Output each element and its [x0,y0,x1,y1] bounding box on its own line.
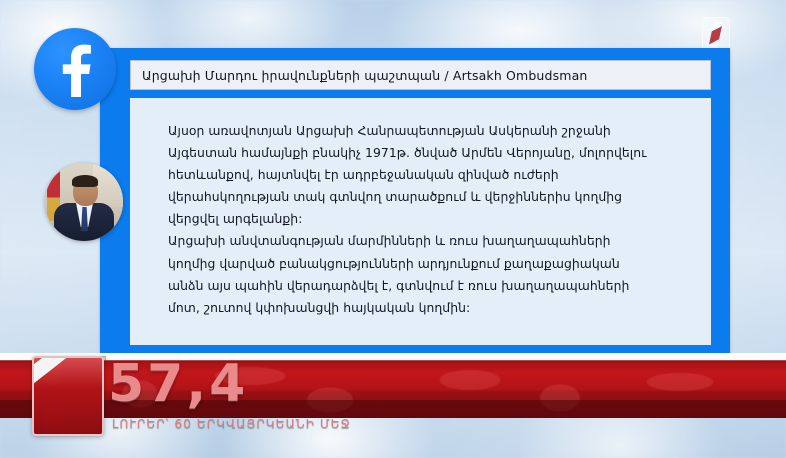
facebook-post-card: Արցախի Մարդու իրավունքների պաշտպան / Art… [100,48,730,353]
logo-notch-bottom [44,408,64,434]
facebook-logo-icon [34,28,116,110]
profile-avatar [45,163,123,241]
post-paragraph-2: Արցախի անվտանգության մարմինների և ռուս խ… [168,230,677,318]
post-paragraph-1: Այսօր առավոտյան Արցախի Հանրապետության Աս… [168,120,677,230]
channel-one-logo-icon [32,356,104,436]
news-banner-subtitle: ԼՈՒՐԵՐ՝ 60 ԵՐԿՎԱՅՐԿԵԱՆԻ ՄԵՋ [112,417,351,431]
avatar-hair [72,175,98,187]
page-title: Արցախի Մարդու իրավունքների պաշտպան / Art… [142,68,587,83]
post-title-bar: Արցախի Մարդու իրավունքների պաշտպան / Art… [130,60,711,90]
post-body-inner: Այսօր առավոտյան Արցախի Հանրապետության Աս… [130,98,711,319]
news-frequency-number: 57,4 [108,358,248,410]
watermark-slash-shape [708,22,723,48]
logo-gloss [34,358,102,388]
post-body-panel: Այսօր առավոտյան Արցախի Հանրապետության Աս… [130,98,711,345]
